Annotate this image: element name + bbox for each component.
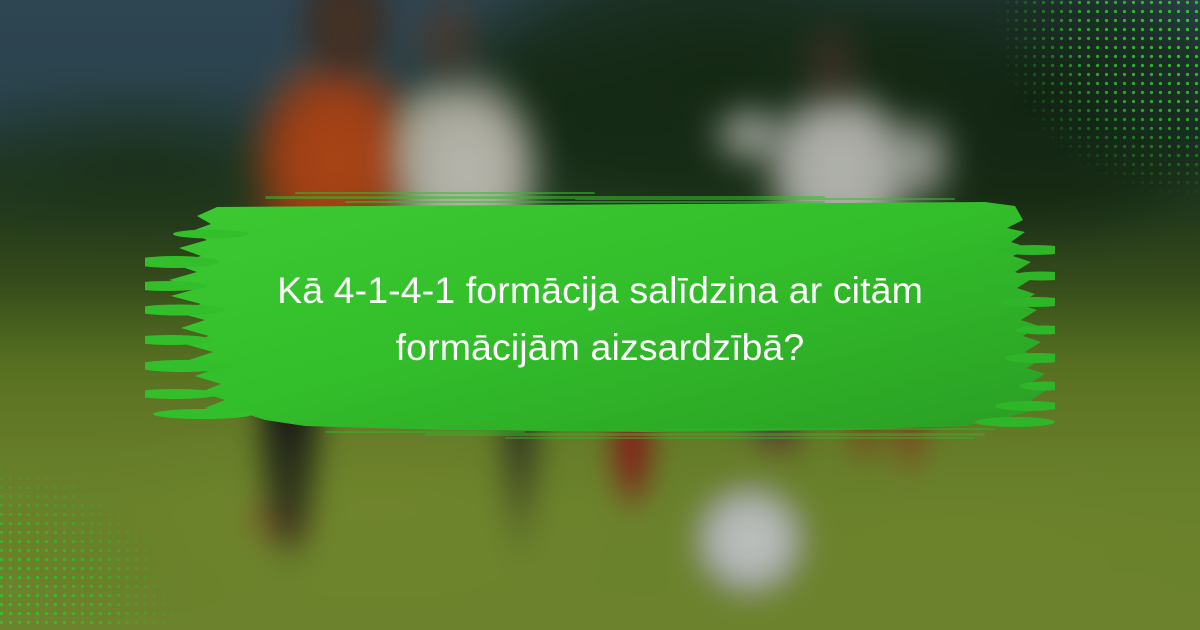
title-line-2: formācijām aizsardzībā? (190, 319, 1010, 376)
page-title: Kā 4-1-4-1 formācija salīdzina ar citām … (190, 262, 1010, 376)
title-line-1: Kā 4-1-4-1 formācija salīdzina ar citām (190, 262, 1010, 319)
social-share-card: Kā 4-1-4-1 formācija salīdzina ar citām … (0, 0, 1200, 630)
brush-bristle-top (265, 192, 955, 203)
